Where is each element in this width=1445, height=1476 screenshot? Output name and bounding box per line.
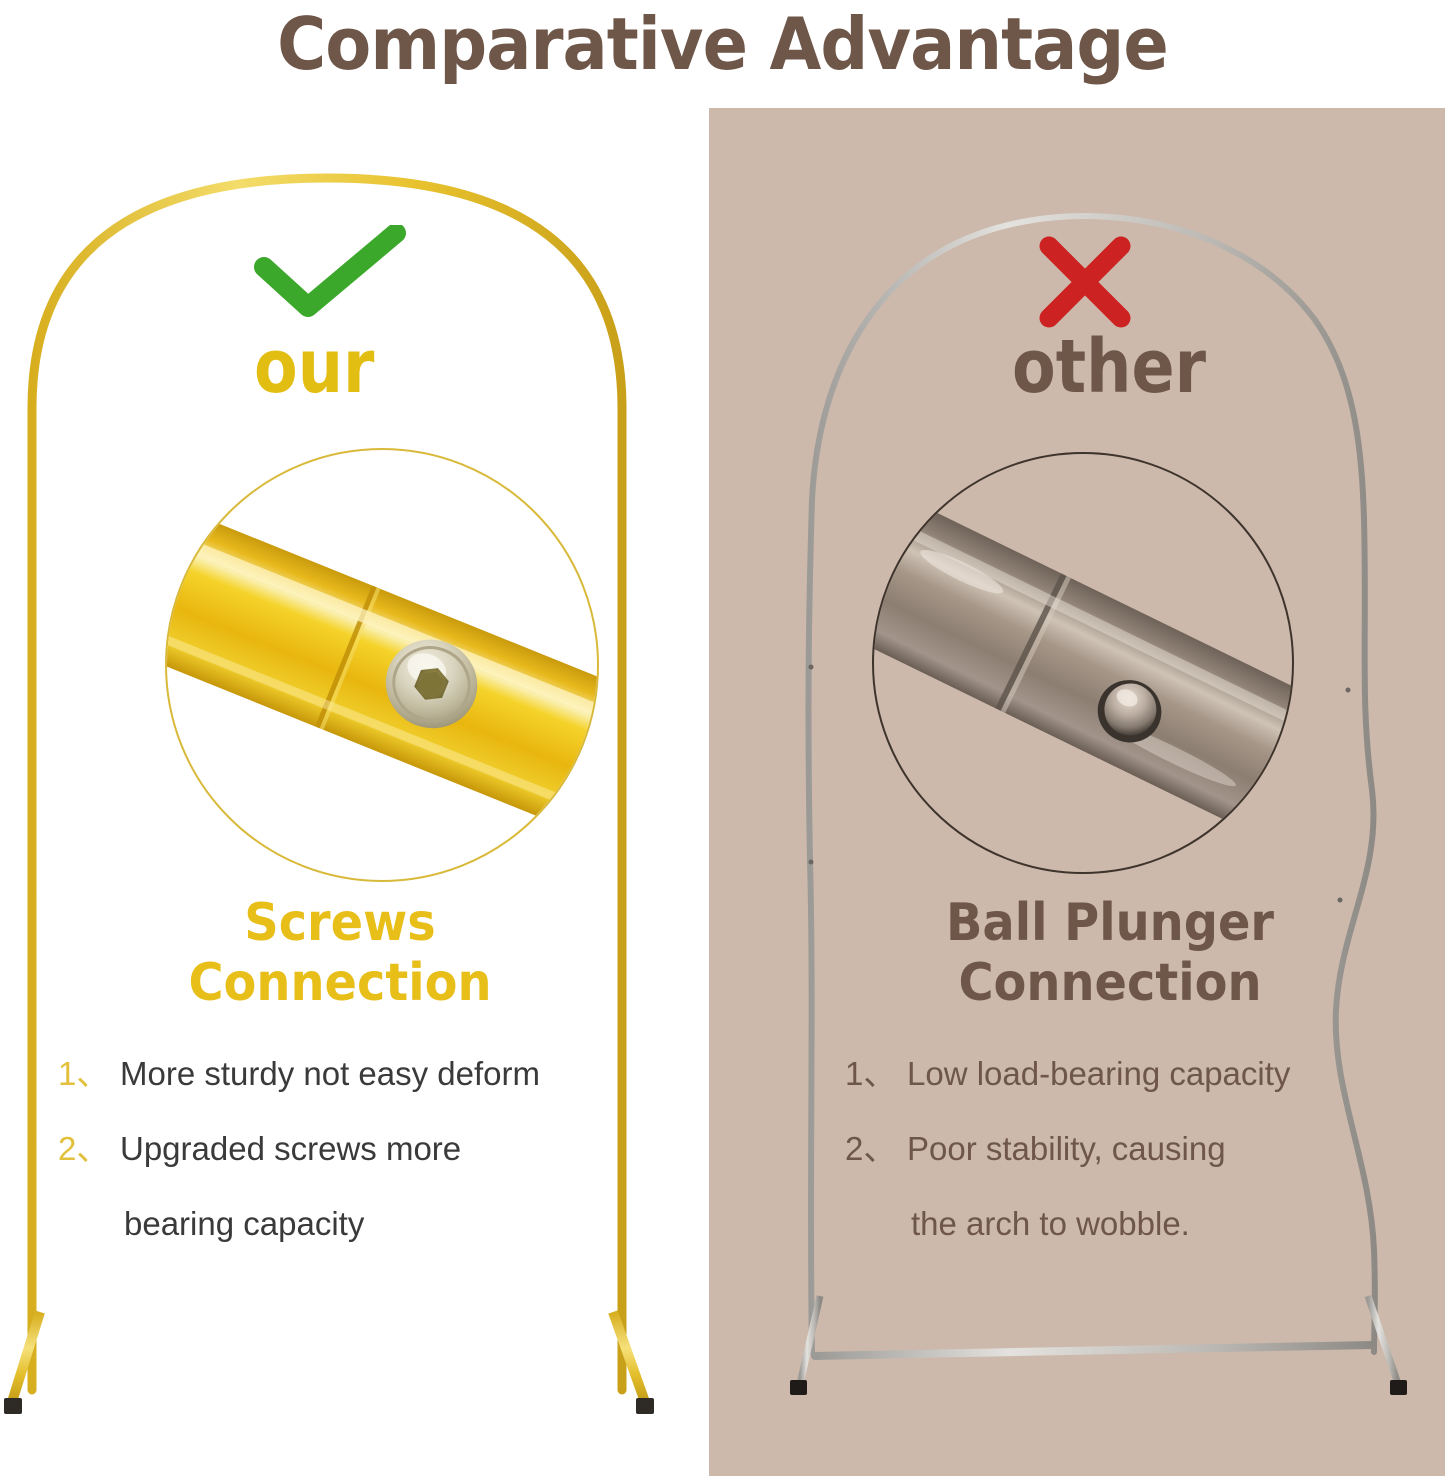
list-item-number: 1、 [845, 1052, 907, 1096]
list-item: 1、 Low load-bearing capacity [845, 1052, 1405, 1096]
list-item-number: 2、 [58, 1127, 120, 1171]
list-item: 1、 More sturdy not easy deform [58, 1052, 658, 1096]
list-item: 2、 Poor stability, causing [845, 1127, 1405, 1171]
ball-plunger-detail-photo [872, 452, 1294, 874]
list-item-text: Upgraded screws more [120, 1127, 461, 1171]
list-item: 2、 Upgraded screws more [58, 1127, 658, 1171]
our-label: our [254, 330, 374, 404]
screw-connection-detail-photo [165, 448, 599, 882]
list-item-continuation: the arch to wobble. [911, 1202, 1405, 1246]
other-label: other [1012, 330, 1206, 404]
green-check-icon [250, 225, 410, 325]
comparison-infographic: Comparative Advantage [0, 0, 1445, 1476]
list-item-text: Low load-bearing capacity [907, 1052, 1290, 1096]
left-heading: Screws Connection [64, 893, 616, 1013]
right-heading: Ball Plunger Connection [852, 893, 1367, 1013]
right-feature-list: 1、 Low load-bearing capacity 2、 Poor sta… [845, 1052, 1405, 1246]
red-x-icon [1035, 232, 1135, 332]
list-item-number: 1、 [58, 1052, 120, 1096]
list-item-number: 2、 [845, 1127, 907, 1171]
list-item-text: Poor stability, causing [907, 1127, 1226, 1171]
left-feature-list: 1、 More sturdy not easy deform 2、 Upgrad… [58, 1052, 658, 1246]
list-item-continuation: bearing capacity [124, 1202, 658, 1246]
list-item-text: More sturdy not easy deform [120, 1052, 540, 1096]
